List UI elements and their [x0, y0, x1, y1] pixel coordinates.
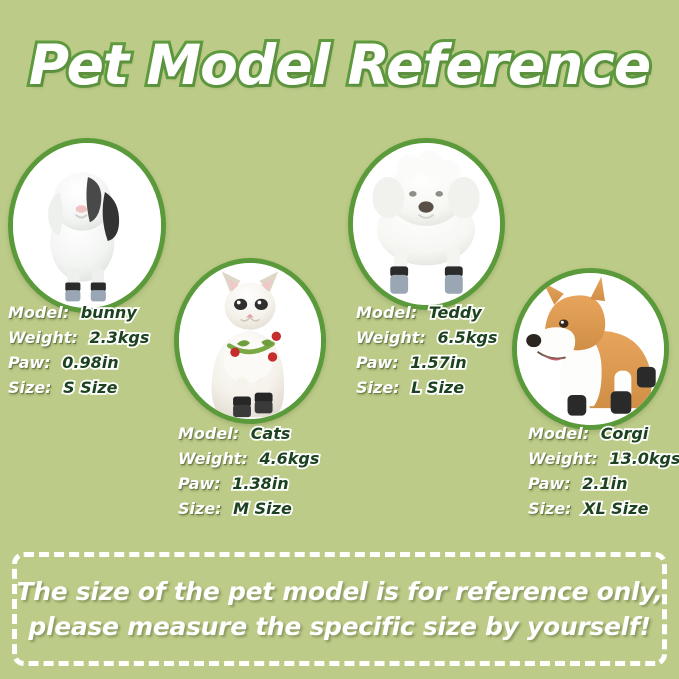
spec-label-weight: Weight: — [178, 449, 248, 468]
bunny-illustration — [13, 143, 161, 308]
spec-row-size: Size: S Size — [8, 375, 149, 400]
spec-value-paw: 2.1in — [582, 474, 627, 493]
spec-row-weight: Weight: 13.0kgs — [528, 446, 679, 471]
pet-photo-teddy — [348, 138, 505, 310]
spec-row-model: Model: Corgi — [528, 421, 679, 446]
spec-value-model: Cats — [251, 424, 291, 443]
spec-row-model: Model: Teddy — [356, 300, 497, 325]
spec-row-model: Model: bunny — [8, 300, 149, 325]
spec-value-paw: 1.57in — [410, 353, 466, 372]
disclaimer-box: The size of the pet model is for referen… — [12, 552, 667, 666]
spec-value-size: XL Size — [583, 499, 648, 518]
spec-value-paw: 1.38in — [232, 474, 288, 493]
spec-value-weight: 6.5kgs — [437, 328, 497, 347]
spec-label-model: Model: — [178, 424, 239, 443]
pet-photo-cats — [174, 258, 326, 424]
spec-row-paw: Paw: 0.98in — [8, 350, 149, 375]
pet-photo-bunny — [8, 138, 166, 313]
spec-row-size: Size: M Size — [178, 496, 319, 521]
pet-specs-cats: Model: Cats Weight: 4.6kgs Paw: 1.38in S… — [178, 421, 319, 521]
spec-label-size: Size: — [528, 499, 572, 518]
spec-value-model: bunny — [81, 303, 137, 322]
spec-label-paw: Paw: — [178, 474, 221, 493]
spec-row-weight: Weight: 2.3kgs — [8, 325, 149, 350]
spec-row-weight: Weight: 4.6kgs — [178, 446, 319, 471]
corgi-illustration — [517, 273, 664, 425]
page-title: Pet Model Reference — [0, 33, 679, 97]
spec-value-weight: 13.0kgs — [609, 449, 679, 468]
spec-row-weight: Weight: 6.5kgs — [356, 325, 497, 350]
spec-label-weight: Weight: — [528, 449, 598, 468]
spec-label-paw: Paw: — [528, 474, 571, 493]
spec-label-size: Size: — [356, 378, 400, 397]
spec-value-weight: 4.6kgs — [259, 449, 319, 468]
cat-illustration — [179, 263, 321, 419]
spec-row-paw: Paw: 1.57in — [356, 350, 497, 375]
spec-label-model: Model: — [8, 303, 69, 322]
spec-value-size: L Size — [411, 378, 464, 397]
spec-row-model: Model: Cats — [178, 421, 319, 446]
spec-label-size: Size: — [8, 378, 52, 397]
spec-label-weight: Weight: — [356, 328, 426, 347]
teddy-illustration — [353, 143, 500, 305]
spec-label-paw: Paw: — [356, 353, 399, 372]
spec-value-size: S Size — [63, 378, 117, 397]
spec-label-size: Size: — [178, 499, 222, 518]
disclaimer-line-2: please measure the specific size by your… — [28, 609, 650, 644]
spec-row-size: Size: XL Size — [528, 496, 679, 521]
spec-value-paw: 0.98in — [62, 353, 118, 372]
spec-row-size: Size: L Size — [356, 375, 497, 400]
spec-row-paw: Paw: 1.38in — [178, 471, 319, 496]
spec-value-size: M Size — [233, 499, 292, 518]
pet-specs-corgi: Model: Corgi Weight: 13.0kgs Paw: 2.1in … — [528, 421, 679, 521]
spec-label-model: Model: — [528, 424, 589, 443]
spec-label-paw: Paw: — [8, 353, 51, 372]
disclaimer-line-1: The size of the pet model is for referen… — [16, 574, 662, 609]
spec-label-model: Model: — [356, 303, 417, 322]
pet-model-reference-poster: Pet Model Reference — [0, 0, 679, 679]
spec-label-weight: Weight: — [8, 328, 78, 347]
spec-value-model: Corgi — [601, 424, 649, 443]
spec-row-paw: Paw: 2.1in — [528, 471, 679, 496]
spec-value-model: Teddy — [429, 303, 482, 322]
pet-photo-corgi — [512, 268, 669, 430]
pet-specs-bunny: Model: bunny Weight: 2.3kgs Paw: 0.98in … — [8, 300, 149, 400]
pet-specs-teddy: Model: Teddy Weight: 6.5kgs Paw: 1.57in … — [356, 300, 497, 400]
spec-value-weight: 2.3kgs — [89, 328, 149, 347]
